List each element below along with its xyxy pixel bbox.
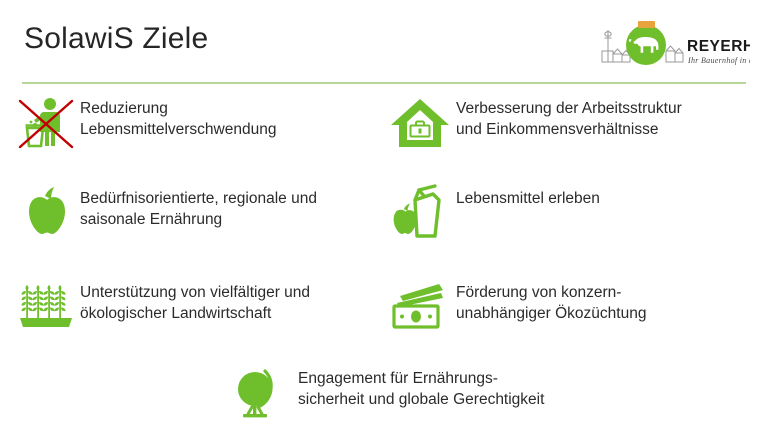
logo-brand-text: REYERHOF xyxy=(687,38,750,55)
goal-item-lebensmittel-erleben: Lebensmittel erleben xyxy=(384,182,768,244)
slide: SolawiS Ziele xyxy=(0,0,768,433)
wheat-field-icon xyxy=(14,276,80,338)
goal-item-oekozuechtung: Förderung von konzern- unabhängiger Ökoz… xyxy=(384,276,768,338)
goal-label: Förderung von konzern- unabhängiger Ökoz… xyxy=(456,276,646,325)
goal-label: Lebensmittel erleben xyxy=(456,182,600,209)
goal-label: Bedürfnisorientierte, regionale und sais… xyxy=(80,182,317,231)
page-title: SolawiS Ziele xyxy=(24,22,208,55)
no-food-waste-icon xyxy=(14,92,80,154)
logo-badge xyxy=(638,21,655,28)
logo-tagline-text: Ihr Bauernhof in der Stadt xyxy=(687,56,750,65)
goal-item-ernaehrungssicherheit: Engagement für Ernährungs- sicherheit un… xyxy=(222,362,642,424)
apple-icon xyxy=(14,182,80,244)
globe-stand-icon xyxy=(222,362,298,424)
grocery-bag-apple-icon xyxy=(384,182,456,244)
goal-label: Reduzierung Lebensmittelverschwendung xyxy=(80,92,276,141)
goal-item-arbeitsstruktur: Verbesserung der Arbeitsstruktur und Ein… xyxy=(384,92,768,154)
goal-item-reduzierung: Reduzierung Lebensmittelverschwendung xyxy=(14,92,386,154)
reyerhof-logo: REYERHOF Ihr Bauernhof in der Stadt xyxy=(600,18,750,72)
banknotes-icon xyxy=(384,276,456,338)
goal-label: Unterstützung von vielfältiger und ökolo… xyxy=(80,276,310,325)
goal-item-landwirtschaft: Unterstützung von vielfältiger und ökolo… xyxy=(14,276,386,338)
house-briefcase-icon xyxy=(384,92,456,154)
goal-label: Verbesserung der Arbeitsstruktur und Ein… xyxy=(456,92,682,141)
title-divider xyxy=(22,82,746,84)
goal-label: Engagement für Ernährungs- sicherheit un… xyxy=(298,362,544,411)
goal-item-ernaehrung: Bedürfnisorientierte, regionale und sais… xyxy=(14,182,386,244)
